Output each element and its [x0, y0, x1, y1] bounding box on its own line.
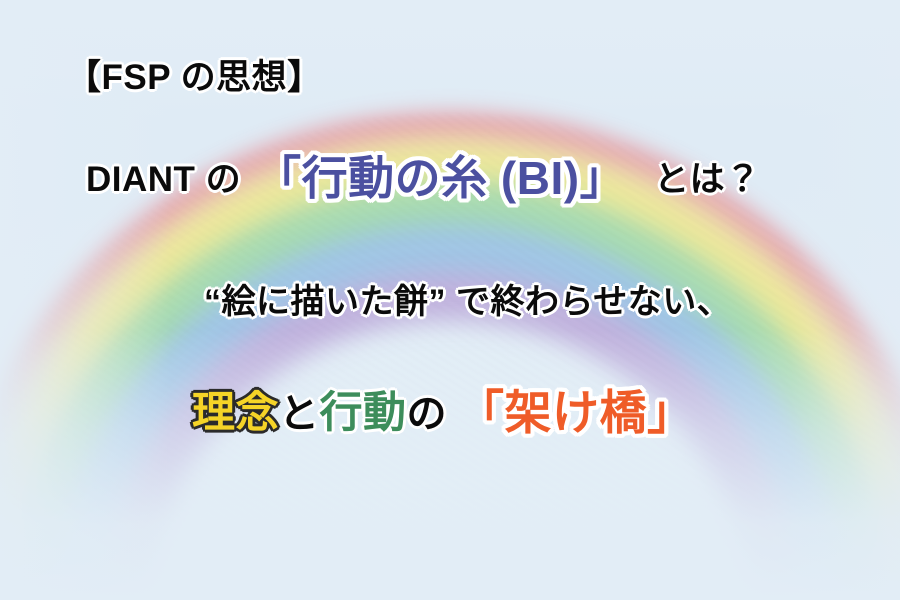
punchline-no: の	[407, 394, 448, 434]
punchline-kodo: 行動	[320, 392, 407, 435]
punchline-to: と	[279, 394, 320, 434]
title-lead: DIANT の	[86, 162, 241, 197]
text-layer: 【FSP の思想】 DIANT の 「行動の糸 (BI)」 とは？ “絵に描いた…	[0, 0, 900, 600]
title-line: DIANT の 「行動の糸 (BI)」 とは？	[86, 152, 761, 198]
punchline: 理念 と 行動 の 「架け橋」	[192, 387, 695, 435]
kicker-text: 【FSP の思想】	[66, 60, 323, 95]
title-accent-bi: 「行動の糸 (BI)」	[255, 155, 626, 201]
punchline-kakehashi: 「架け橋」	[457, 389, 695, 436]
slide-canvas: 【FSP の思想】 DIANT の 「行動の糸 (BI)」 とは？ “絵に描いた…	[0, 0, 900, 600]
punchline-rinen: 理念	[192, 392, 279, 435]
subtitle-text: “絵に描いた餅” で終わらせない、	[204, 285, 731, 319]
title-tail: とは？	[654, 162, 761, 197]
